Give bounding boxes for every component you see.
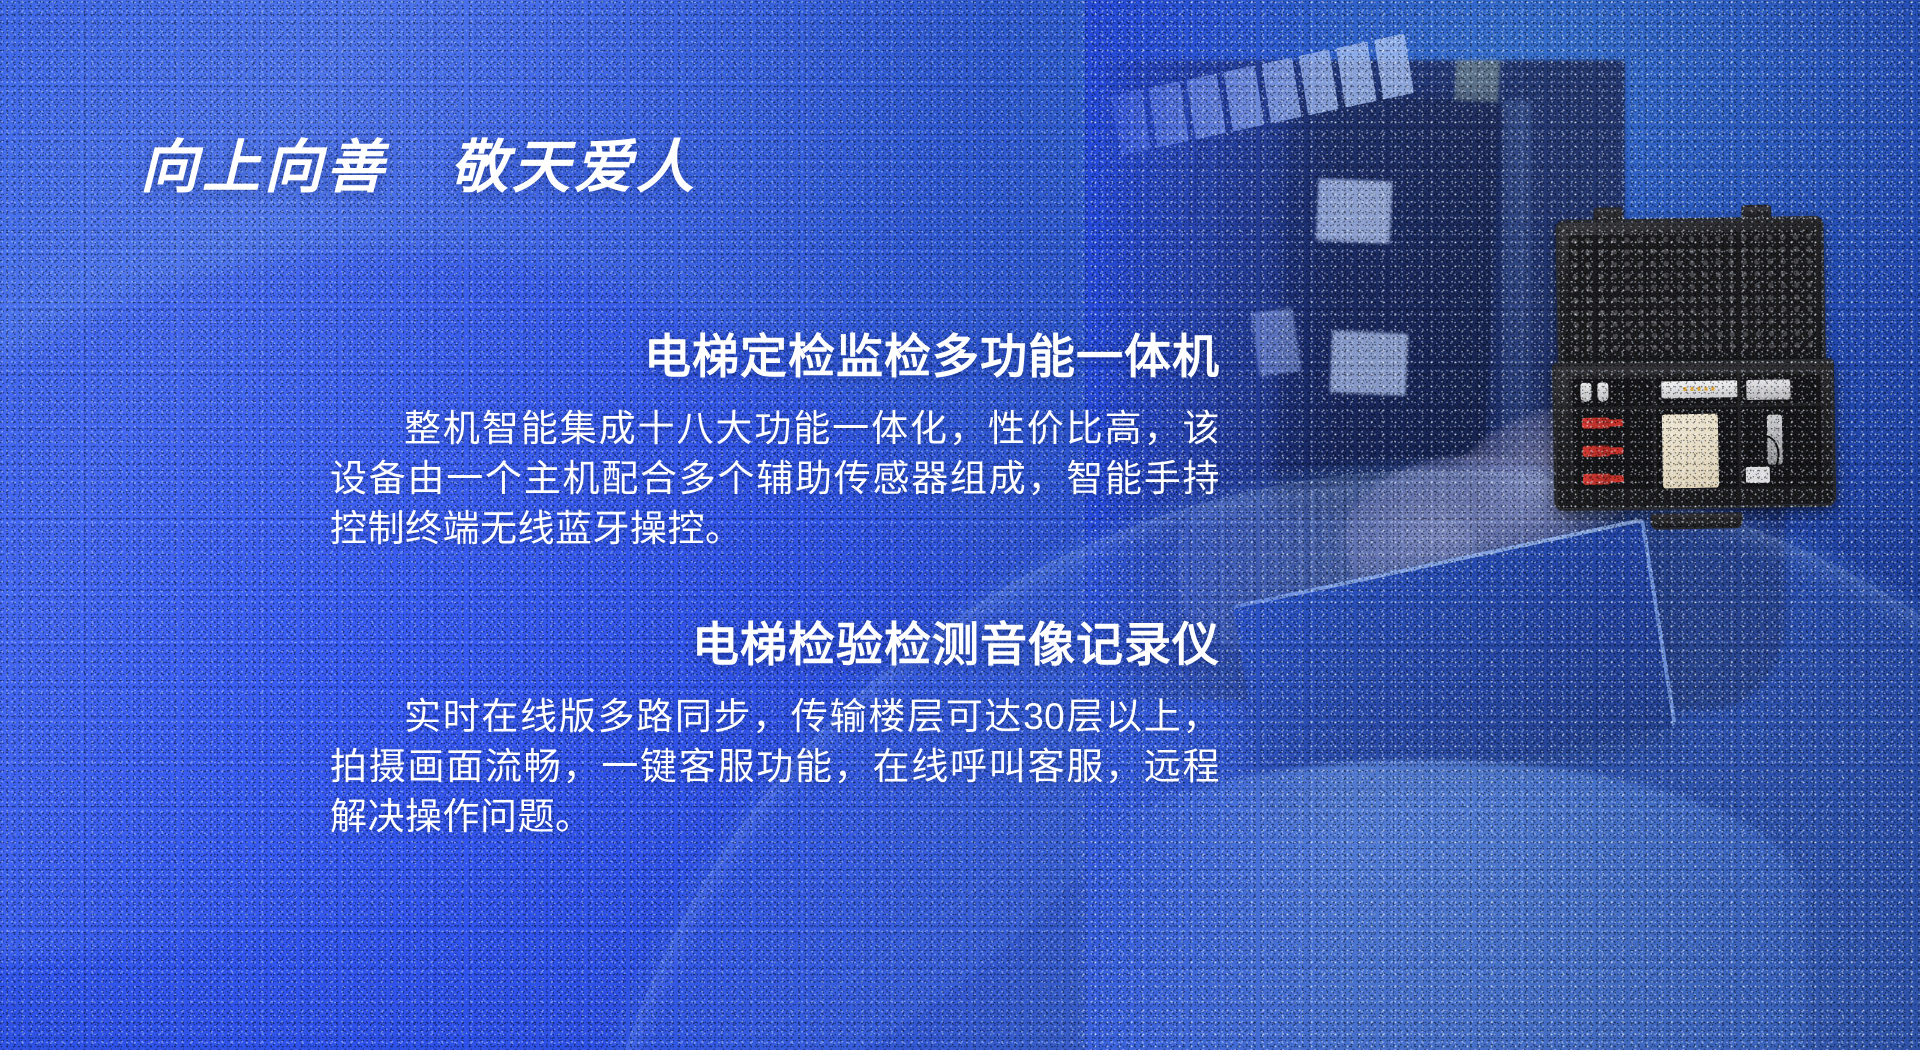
product-description-2: 实时在线版多路同步，传输楼层可达30层以上，拍摄画面流畅，一键客服功能，在线呼叫… bbox=[330, 692, 1220, 842]
terminal-key bbox=[1224, 66, 1264, 132]
tray-cell-tablet bbox=[1656, 407, 1740, 488]
product-sections: 电梯定检监检多功能一体机 整机智能集成十八大功能一体化，性价比高，该设备由一个主… bbox=[330, 330, 1220, 842]
tray-cell-probes bbox=[1573, 409, 1654, 490]
product-section-1: 电梯定检监检多功能一体机 整机智能集成十八大功能一体化，性价比高，该设备由一个主… bbox=[330, 330, 1220, 554]
equipment-case-photo bbox=[1545, 215, 1840, 520]
product-title-2: 电梯检验检测音像记录仪 bbox=[330, 618, 1220, 672]
case-base bbox=[1552, 359, 1837, 512]
case-foam-padding bbox=[1569, 231, 1813, 358]
accessory-module bbox=[1746, 467, 1770, 483]
red-probe bbox=[1582, 446, 1610, 457]
tray-cell-battery bbox=[1740, 375, 1820, 404]
case-handle bbox=[1651, 512, 1743, 530]
terminal-key bbox=[1149, 81, 1189, 147]
tray-cell-main-unit bbox=[1655, 376, 1738, 406]
sensor-pair bbox=[1580, 382, 1608, 401]
company-slogan: 向上向善 敬天爱人 bbox=[140, 120, 698, 204]
tray-cell-sensors bbox=[1572, 378, 1652, 407]
product-section-2: 电梯检验检测音像记录仪 实时在线版多路同步，传输楼层可达30层以上，拍摄画面流畅… bbox=[330, 618, 1220, 842]
red-probe bbox=[1583, 474, 1611, 485]
hanging-tag bbox=[1251, 307, 1301, 376]
terminal-key bbox=[1186, 74, 1226, 140]
case-lid bbox=[1555, 216, 1826, 371]
handheld-tablet bbox=[1662, 414, 1719, 489]
product-title-1: 电梯定检监检多功能一体机 bbox=[330, 330, 1220, 384]
terminal-key bbox=[1374, 34, 1414, 100]
main-host-unit bbox=[1661, 380, 1737, 398]
case-tray bbox=[1569, 372, 1819, 490]
cabinet-label-lower bbox=[1330, 330, 1409, 395]
terminal-key bbox=[1261, 58, 1301, 124]
red-probe bbox=[1582, 418, 1610, 429]
sensor-unit bbox=[1580, 383, 1591, 402]
cabinet-label-upper bbox=[1316, 178, 1393, 243]
terminal-key bbox=[1336, 42, 1376, 108]
product-description-1: 整机智能集成十八大功能一体化，性价比高，该设备由一个主机配合多个辅助传感器组成，… bbox=[330, 404, 1220, 554]
banner-stage: 向上向善 敬天爱人 电梯定检监检多功能一体机 整机智能集成十八大功能一体化，性价… bbox=[0, 0, 1920, 1050]
terminal-key bbox=[1299, 50, 1339, 116]
tray-cell-accessories bbox=[1741, 406, 1822, 487]
battery-pack bbox=[1746, 379, 1790, 400]
sensor-unit bbox=[1597, 382, 1608, 401]
